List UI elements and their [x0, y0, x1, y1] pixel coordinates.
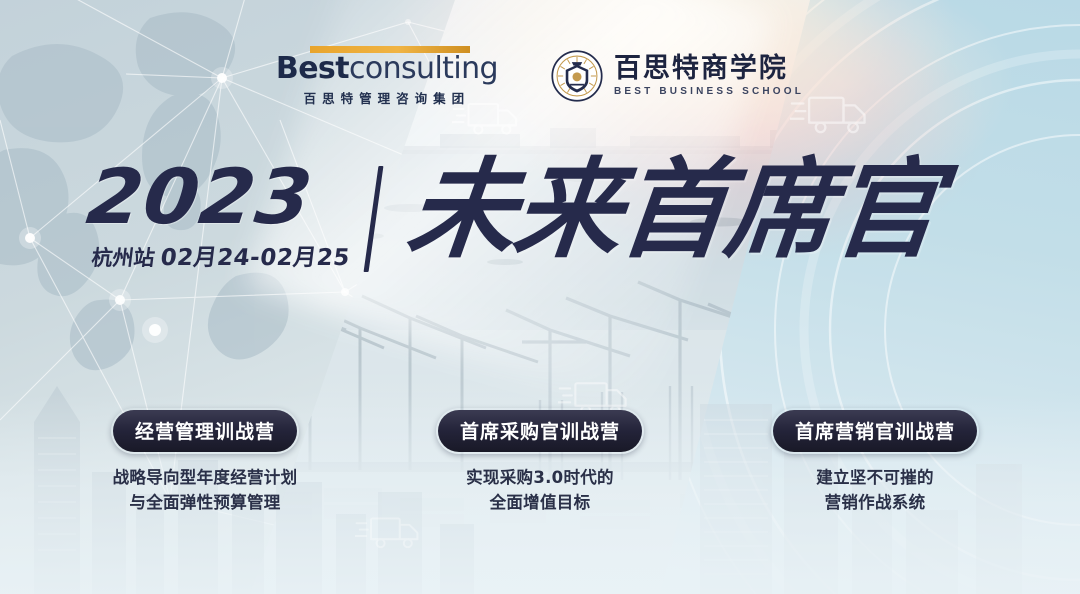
headline-block: 2023 杭州站 02月24-02月25 未来首席官	[0, 162, 1080, 282]
program-desc-line: 与全面弹性预算管理	[113, 491, 298, 516]
program-desc-line: 战略导向型年度经营计划	[113, 466, 298, 491]
year-and-date-column: 2023 杭州站 02月24-02月25	[88, 162, 368, 272]
program-badge[interactable]: 经营管理训战营	[111, 408, 299, 454]
program-badge[interactable]: 首席营销官训战营	[771, 408, 979, 454]
date-range-text: 02月24-02月25	[159, 238, 352, 272]
program-desc-line: 营销作战系统	[816, 491, 934, 516]
school-name-chinese: 百思特商学院	[614, 55, 804, 83]
best-consulting-logo: Bestconsulting 百思特管理咨询集团	[276, 46, 498, 107]
logo-bar: Bestconsulting 百思特管理咨询集团 百思特商学院 BEST BUS…	[0, 44, 1080, 108]
business-school-logo: 百思特商学院 BEST BUSINESS SCHOOL	[551, 50, 804, 102]
program-badge-label: 经营管理训战营	[135, 417, 275, 444]
program-desc-line: 建立坚不可摧的	[816, 466, 934, 491]
school-name-english: BEST BUSINESS SCHOOL	[614, 86, 804, 97]
year-text: 2023	[84, 162, 384, 232]
program-description: 实现采购3.0时代的 全面增值目标	[466, 466, 614, 516]
program-description: 战略导向型年度经营计划 与全面弹性预算管理	[113, 466, 298, 516]
logo-word-consulting: consulting	[349, 51, 498, 86]
main-title-text: 未来首席官	[402, 152, 945, 271]
best-consulting-wordmark: Bestconsulting	[276, 54, 498, 84]
program-list: 经营管理训战营 战略导向型年度经营计划 与全面弹性预算管理 首席采购官训战营 实…	[0, 408, 1080, 516]
program-description: 建立坚不可摧的 营销作战系统	[816, 466, 934, 516]
program-desc-line: 实现采购3.0时代的	[466, 466, 614, 491]
school-crest-icon	[551, 50, 603, 102]
program-item: 经营管理训战营 战略导向型年度经营计划 与全面弹性预算管理	[78, 408, 333, 516]
program-item: 首席采购官训战营 实现采购3.0时代的 全面增值目标	[413, 408, 668, 516]
logo-word-best: Best	[276, 51, 349, 86]
truck-icon	[355, 510, 427, 554]
city-date-line: 杭州站 02月24-02月25	[90, 238, 370, 272]
program-badge-label: 首席采购官训战营	[460, 417, 620, 444]
program-badge[interactable]: 首席采购官训战营	[436, 408, 644, 454]
program-item: 首席营销官训战营 建立坚不可摧的 营销作战系统	[748, 408, 1003, 516]
city-text: 杭州站	[90, 242, 157, 272]
school-name-block: 百思特商学院 BEST BUSINESS SCHOOL	[614, 55, 804, 97]
program-desc-line: 全面增值目标	[466, 491, 614, 516]
event-poster: Bestconsulting 百思特管理咨询集团 百思特商学院 BEST BUS…	[0, 0, 1080, 594]
program-badge-label: 首席营销官训战营	[795, 417, 955, 444]
best-consulting-chinese: 百思特管理咨询集团	[304, 88, 471, 107]
